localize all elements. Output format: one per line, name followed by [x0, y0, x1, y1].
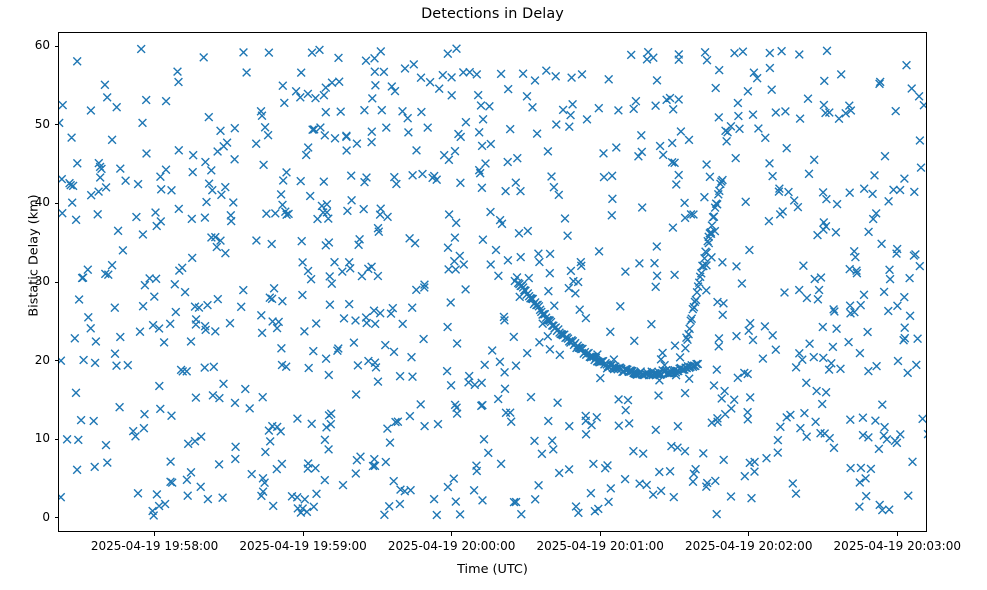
scatter-markers — [59, 33, 927, 532]
x-tick-mark — [303, 532, 304, 536]
y-tick-mark — [55, 360, 59, 361]
y-axis-label: Bistatic Delay (km) — [27, 116, 42, 396]
scatter-data-layer — [59, 33, 926, 531]
y-tick-mark — [55, 124, 59, 125]
x-axis-label: Time (UTC) — [58, 562, 927, 577]
x-tick-label: 2025-04-19 19:59:00 — [223, 539, 383, 553]
x-tick-mark — [748, 532, 749, 536]
y-tick-mark — [55, 282, 59, 283]
x-tick-mark — [600, 532, 601, 536]
y-tick-label: 40 — [0, 195, 50, 209]
x-tick-label: 2025-04-19 20:02:00 — [669, 539, 829, 553]
y-tick-label: 50 — [0, 117, 50, 131]
x-tick-mark — [451, 532, 452, 536]
detection-markers — [59, 45, 927, 520]
x-tick-mark — [154, 532, 155, 536]
chart-title: Detections in Delay — [58, 6, 927, 22]
plot-axes-area — [58, 32, 927, 532]
x-tick-label: 2025-04-19 20:01:00 — [520, 539, 680, 553]
y-tick-label: 30 — [0, 274, 50, 288]
y-tick-label: 0 — [0, 510, 50, 524]
y-tick-mark — [55, 46, 59, 47]
matplotlib-figure: Detections in Delay 0102030405060 2025-0… — [0, 0, 987, 590]
y-tick-label: 20 — [0, 353, 50, 367]
x-tick-mark — [897, 532, 898, 536]
y-tick-label: 60 — [0, 38, 50, 52]
y-tick-mark — [55, 439, 59, 440]
x-tick-label: 2025-04-19 20:00:00 — [372, 539, 532, 553]
y-tick-mark — [55, 517, 59, 518]
x-tick-label: 2025-04-19 20:03:00 — [817, 539, 977, 553]
y-tick-mark — [55, 203, 59, 204]
y-tick-label: 10 — [0, 431, 50, 445]
x-tick-label: 2025-04-19 19:58:00 — [75, 539, 235, 553]
